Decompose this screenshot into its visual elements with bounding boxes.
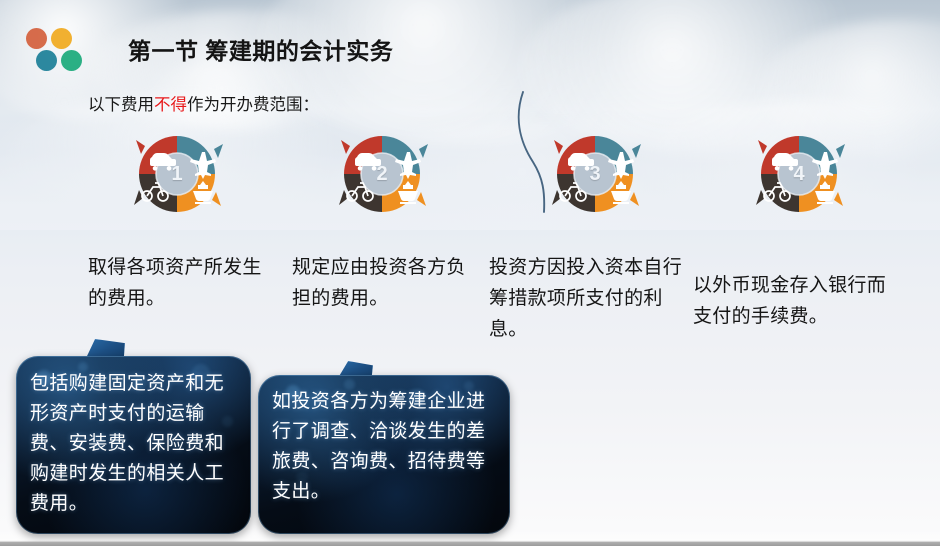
callout-bubble-2: 如投资各方为筹建企业进行了调查、洽谈发生的差旅费、咨询费、招待费等支出。 xyxy=(258,375,510,534)
donut-icon-group-3: 3 xyxy=(540,128,650,220)
logo-four-dots xyxy=(24,28,78,74)
logo-dot-orange xyxy=(26,28,47,49)
subtitle-highlight: 不得 xyxy=(154,96,187,114)
donut-icon-group-2: 2 xyxy=(327,128,437,220)
subtitle-suffix: 作为开办费范围： xyxy=(187,96,319,114)
logo-dot-blue xyxy=(36,50,57,71)
callout-text-2: 如投资各方为筹建企业进行了调查、洽谈发生的差旅费、咨询费、招待费等支出。 xyxy=(258,375,510,507)
donut-number-4: 4 xyxy=(744,128,854,220)
bottom-status-bar xyxy=(0,542,940,546)
slide-canvas: 第一节 筹建期的会计实务 以下费用不得作为开办费范围： xyxy=(0,0,940,546)
donut-number-3: 3 xyxy=(540,128,650,220)
subtitle-line: 以下费用不得作为开办费范围： xyxy=(88,91,319,115)
page-title: 第一节 筹建期的会计实务 xyxy=(128,32,393,66)
subtitle-prefix: 以下费用 xyxy=(88,96,154,114)
item-text-2: 规定应由投资各方负担的费用。 xyxy=(292,252,482,314)
callout-text-1: 包括购建固定资产和无形资产时支付的运输费、安装费、保险费和购建时发生的相关人工费… xyxy=(16,356,251,519)
callout-bubble-1: 包括购建固定资产和无形资产时支付的运输费、安装费、保险费和购建时发生的相关人工费… xyxy=(16,356,251,534)
item-text-4: 以外币现金存入银行而支付的手续费。 xyxy=(693,270,903,332)
donut-number-1: 1 xyxy=(122,128,232,220)
donut-number-2: 2 xyxy=(327,128,437,220)
donut-icon-group-1: 1 xyxy=(122,128,232,220)
item-text-1: 取得各项资产所发生的费用。 xyxy=(88,252,278,314)
logo-dot-green xyxy=(61,50,82,71)
logo-dot-yellow xyxy=(51,28,72,49)
donut-icon-group-4: 4 xyxy=(744,128,854,220)
item-text-3: 投资方因投入资本自行筹措款项所支付的利息。 xyxy=(489,252,686,345)
